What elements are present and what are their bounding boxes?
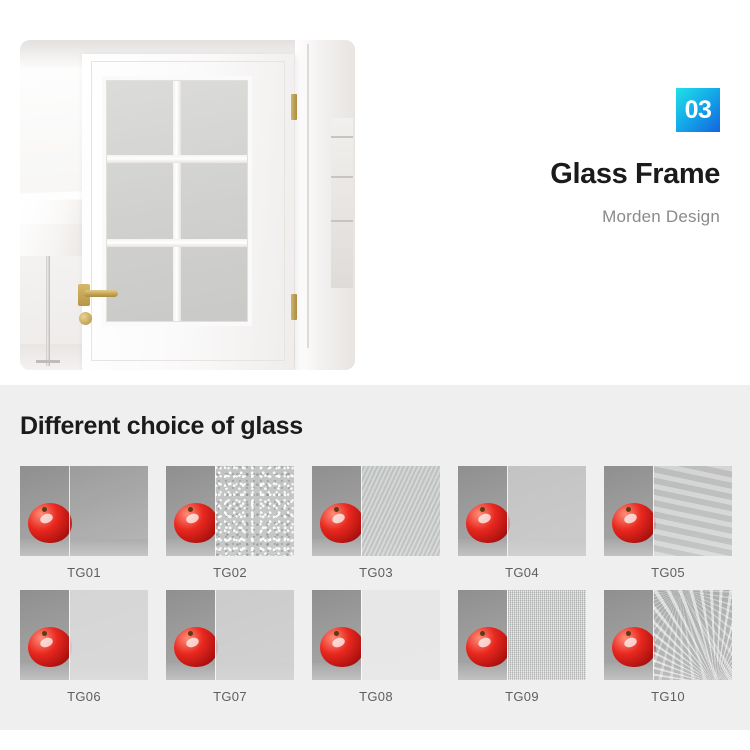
- page-footer: [0, 730, 750, 750]
- glass-sample-card[interactable]: TG01: [20, 466, 148, 580]
- glass-pane-overlay: [215, 590, 294, 680]
- glass-pane-overlay: [653, 590, 732, 680]
- glass-sample-card[interactable]: TG07: [166, 590, 294, 704]
- pane-edge: [215, 466, 216, 556]
- step-number-badge: 03: [676, 88, 720, 132]
- glass-swatch-image: [20, 590, 148, 680]
- pane-edge: [361, 590, 362, 680]
- glass-pane-overlay: [361, 466, 440, 556]
- glass-sample-card[interactable]: TG06: [20, 590, 148, 704]
- glass-sample-label: TG09: [458, 689, 586, 704]
- glass-pane-overlay: [69, 590, 148, 680]
- door-keyhole-rose: [79, 312, 92, 325]
- door-panel: [82, 54, 294, 370]
- glass-sample-label: TG10: [604, 689, 732, 704]
- glass-swatch-image: [166, 590, 294, 680]
- door-glazing: [102, 76, 252, 326]
- glass-swatch-image: [312, 466, 440, 556]
- apple-stem-icon: [42, 507, 47, 512]
- shelf-line: [331, 176, 353, 178]
- floor-lamp-pole: [46, 256, 50, 366]
- apple-icon: [174, 503, 218, 543]
- glass-swatch-image: [458, 466, 586, 556]
- hero-section: 03 Glass Frame Morden Design: [0, 0, 750, 385]
- shelf-line: [331, 220, 353, 222]
- apple-stem-icon: [480, 507, 485, 512]
- glass-swatch-image: [312, 590, 440, 680]
- pane-edge: [507, 590, 508, 680]
- jamb-edge-line: [307, 44, 309, 348]
- apple-icon: [466, 627, 510, 667]
- apple-icon: [612, 503, 656, 543]
- glass-sample-card[interactable]: TG03: [312, 466, 440, 580]
- glass-sample-card[interactable]: TG02: [166, 466, 294, 580]
- door-hinge: [291, 294, 297, 320]
- pane-edge: [653, 590, 654, 680]
- glass-pane-overlay: [361, 590, 440, 680]
- pane-edge: [507, 466, 508, 556]
- door-hinge: [291, 94, 297, 120]
- glass-sample-label: TG07: [166, 689, 294, 704]
- glass-sample-label: TG04: [458, 565, 586, 580]
- glass-pane-overlay: [653, 466, 732, 556]
- glass-sample-card[interactable]: TG08: [312, 590, 440, 704]
- glass-sample-label: TG03: [312, 565, 440, 580]
- glass-swatch-image: [166, 466, 294, 556]
- floor-lamp-highlight: [20, 200, 88, 224]
- apple-stem-icon: [626, 507, 631, 512]
- apple-icon: [174, 627, 218, 667]
- page-title: Glass Frame: [390, 158, 720, 191]
- glass-sample-label: TG06: [20, 689, 148, 704]
- apple-stem-icon: [188, 631, 193, 636]
- glass-swatch-image: [458, 590, 586, 680]
- pane-edge: [69, 466, 70, 556]
- pane-edge: [653, 466, 654, 556]
- apple-stem-icon: [42, 631, 47, 636]
- glass-sample-label: TG02: [166, 565, 294, 580]
- apple-icon: [28, 627, 72, 667]
- glass-swatch-image: [604, 466, 732, 556]
- apple-stem-icon: [626, 631, 631, 636]
- apple-icon: [320, 503, 364, 543]
- glass-sample-label: TG05: [604, 565, 732, 580]
- apple-stem-icon: [334, 631, 339, 636]
- pane-edge: [215, 590, 216, 680]
- hero-caption: 03 Glass Frame Morden Design: [390, 88, 720, 227]
- apple-stem-icon: [334, 507, 339, 512]
- glass-swatch-image: [20, 466, 148, 556]
- glass-samples-grid: TG01 TG02 TG03: [20, 466, 732, 704]
- glass-pane-overlay: [215, 466, 294, 556]
- glass-sample-card[interactable]: TG10: [604, 590, 732, 704]
- glass-sample-card[interactable]: TG04: [458, 466, 586, 580]
- apple-icon: [612, 627, 656, 667]
- background-shelf-unit: [331, 118, 353, 288]
- apple-icon: [28, 503, 72, 543]
- product-hero-image: [20, 40, 355, 370]
- page-subtitle: Morden Design: [390, 207, 720, 227]
- pane-edge: [69, 590, 70, 680]
- floor-lamp-base: [36, 360, 60, 363]
- glass-swatch-image: [604, 590, 732, 680]
- apple-stem-icon: [480, 631, 485, 636]
- glass-pane-overlay: [507, 590, 586, 680]
- apple-icon: [466, 503, 510, 543]
- glass-pane-overlay: [507, 466, 586, 556]
- door-handle-lever-icon: [84, 290, 118, 297]
- glass-sample-card[interactable]: TG09: [458, 590, 586, 704]
- glass-sample-label: TG08: [312, 689, 440, 704]
- apple-stem-icon: [188, 507, 193, 512]
- samples-heading: Different choice of glass: [20, 412, 303, 441]
- pane-edge: [361, 466, 362, 556]
- glass-sample-card[interactable]: TG05: [604, 466, 732, 580]
- glazing-frame: [102, 76, 252, 326]
- apple-icon: [320, 627, 364, 667]
- glass-samples-section: Different choice of glass TG01 TG02: [0, 385, 750, 730]
- glass-pane-overlay: [69, 466, 148, 556]
- shelf-line: [331, 136, 353, 138]
- glass-sample-label: TG01: [20, 565, 148, 580]
